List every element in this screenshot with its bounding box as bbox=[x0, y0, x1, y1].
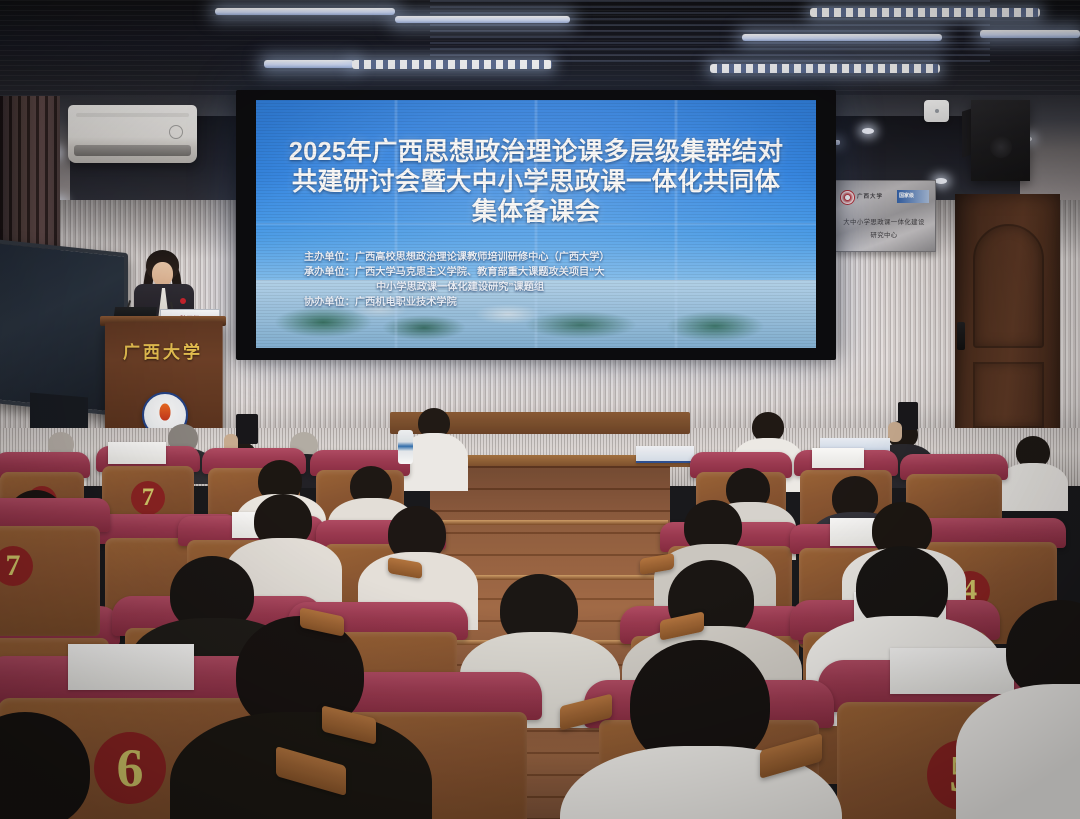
shoulders bbox=[998, 463, 1068, 511]
seat-number-badge: 7 bbox=[0, 546, 33, 586]
plaque-line-1: 大中小学思政课一体化建设 bbox=[833, 217, 935, 226]
exit-door[interactable] bbox=[955, 194, 1060, 444]
led-video-wall: 2025年广西思想政治理论课多层级集群结对 共建研讨会暨大中小学思政课一体化共同… bbox=[256, 100, 816, 348]
ceiling-light-strip bbox=[215, 8, 395, 15]
screen-scanlines bbox=[256, 100, 816, 348]
seat-paper[interactable] bbox=[68, 644, 194, 690]
seat-paper[interactable] bbox=[890, 648, 1014, 694]
seat[interactable]: 7 bbox=[0, 498, 110, 628]
water-bottle bbox=[398, 430, 413, 464]
ceiling-light-strip bbox=[810, 8, 1040, 17]
seat-number-badge: 6 bbox=[94, 732, 166, 804]
university-logo-icon bbox=[840, 190, 855, 205]
ceiling-light-strip bbox=[264, 60, 354, 68]
conference-hall-photo: 广西大学 国家级 大中小学思政课一体化建设 研究中心 2025年广西思想政治理论… bbox=[0, 0, 1080, 819]
ceiling bbox=[0, 0, 1080, 100]
podium-engraving: 广西大学 bbox=[104, 338, 222, 363]
plaque-org-name: 广西大学 bbox=[857, 192, 883, 200]
ac-vent bbox=[74, 145, 191, 156]
plaque-badge-text: 国家级 bbox=[899, 192, 914, 199]
aisle-step bbox=[432, 520, 668, 525]
ceiling-light-strip bbox=[352, 60, 552, 69]
door-handle[interactable] bbox=[957, 322, 965, 350]
wall-plaque: 广西大学 国家级 大中小学思政课一体化建设 研究中心 bbox=[832, 180, 936, 252]
seat-number: 7 bbox=[6, 551, 21, 581]
ceiling-light-strip bbox=[395, 16, 570, 23]
seat-paper[interactable] bbox=[812, 448, 864, 468]
seat-paper[interactable] bbox=[108, 442, 166, 464]
seat-number: 7 bbox=[142, 485, 155, 510]
speaker-lapel-pin-icon bbox=[180, 298, 186, 304]
ceiling-light-strip bbox=[742, 34, 942, 41]
ceiling-light-strip bbox=[980, 30, 1080, 38]
wall-speaker bbox=[971, 100, 1030, 181]
plaque-line-2: 研究中心 bbox=[833, 230, 935, 239]
ceiling-light-strip bbox=[710, 64, 940, 73]
ac-logo-icon bbox=[169, 125, 183, 139]
door-panel-upper bbox=[973, 224, 1044, 348]
wifi-access-point-icon bbox=[924, 100, 949, 122]
downlight bbox=[935, 178, 947, 184]
seat-number: 6 bbox=[117, 741, 144, 795]
plaque-badge: 国家级 bbox=[897, 190, 929, 203]
hand bbox=[888, 422, 902, 442]
seat-back: 7 bbox=[0, 526, 100, 636]
seat-number-badge: 7 bbox=[131, 481, 165, 515]
speaker-face bbox=[152, 262, 173, 286]
ac-grille bbox=[76, 113, 189, 117]
air-conditioner-unit bbox=[68, 105, 197, 163]
smartphone-icon bbox=[236, 414, 258, 444]
table-name-card bbox=[636, 446, 694, 463]
door-panel-lower bbox=[973, 362, 1044, 428]
downlight bbox=[862, 128, 874, 134]
